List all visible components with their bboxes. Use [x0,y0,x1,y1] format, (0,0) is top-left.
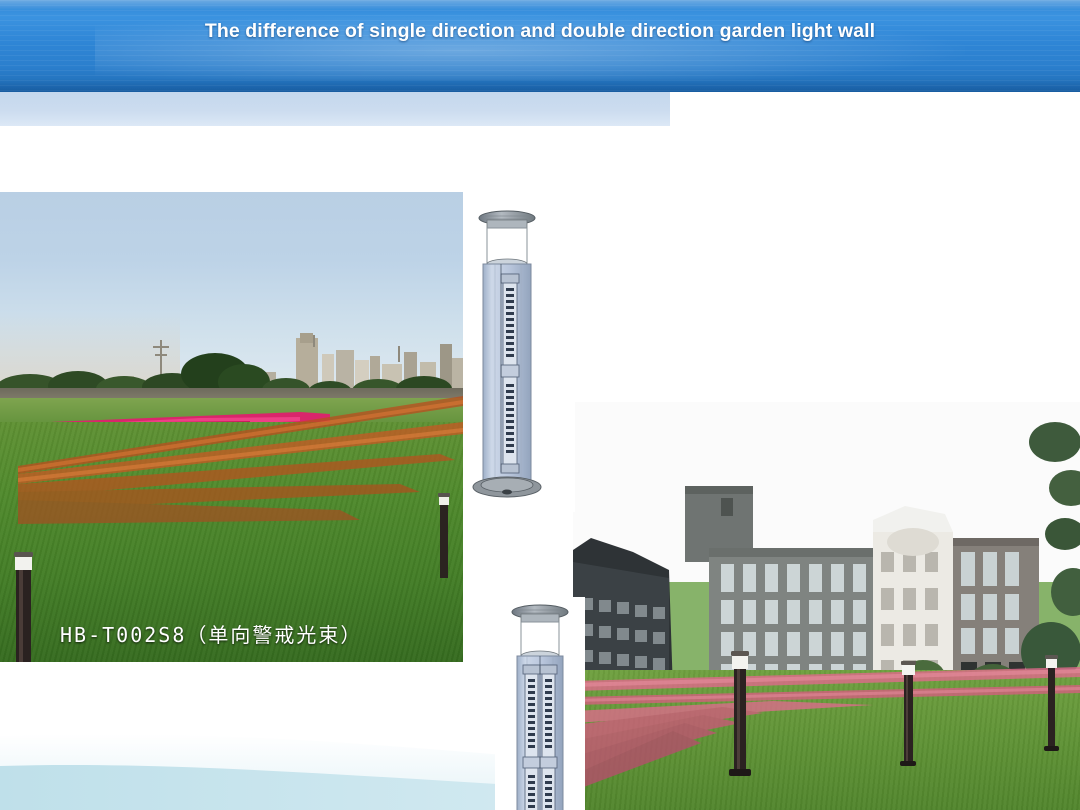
header-bottom-shade [0,78,1080,92]
single-direction-photo: HB-T002S8（单向警戒光束） [0,192,463,662]
right-photo-bollard-middle [895,660,921,770]
left-photo-bollard-far [434,492,454,582]
single-render-svg [465,202,575,512]
right-photo-beam-group [573,657,1080,807]
left-photo-caption: HB-T002S8（单向警戒光束） [60,619,362,648]
right-photo-bollard-left [723,650,757,780]
content-rounded-corner [1044,92,1080,128]
header-sheen [0,0,1080,10]
slide-header-banner: The difference of single direction and d… [0,0,1080,92]
double-beam-bollard-render [495,597,585,810]
slide-root: The difference of single direction and d… [0,0,1080,810]
double-direction-photo: HB-T002S8-D（双向警戒光束） [573,402,1080,810]
single-beam-bollard-render [465,202,575,512]
double-render-svg [495,597,585,810]
page-title: The difference of single direction and d… [0,20,1080,43]
header-stripe-texture [0,0,1080,92]
slide-content-area: HB-T002S8（单向警戒光束） [0,92,1080,810]
left-tint-band [0,92,670,126]
left-photo-bollard-front [6,550,40,662]
right-photo-bollard-right [1040,654,1062,754]
left-photo-beam-group [0,388,463,608]
